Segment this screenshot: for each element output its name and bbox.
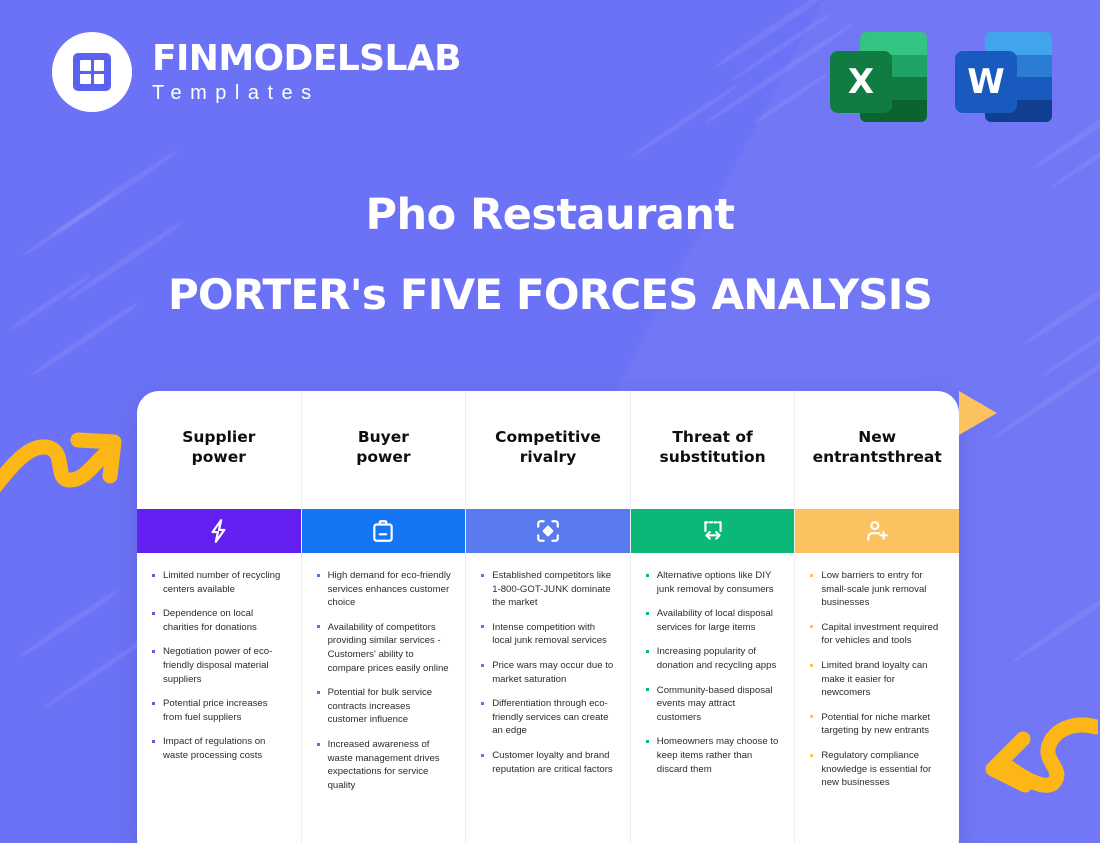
bullet-item: Increasing popularity of donation and re…: [641, 645, 781, 672]
force-column-2: Buyer power High demand for eco-friendly…: [302, 391, 467, 843]
force-points-4: Alternative options like DIY junk remova…: [631, 553, 795, 843]
bullet-list: Limited number of recycling centers avai…: [147, 569, 287, 763]
add-person-icon: [864, 518, 890, 544]
bullet-item: Potential for niche market targeting by …: [805, 711, 945, 738]
force-icon-band-3: [466, 509, 630, 553]
bullet-item: Regulatory compliance knowledge is essen…: [805, 749, 945, 790]
bullet-item: Customer loyalty and brand reputation ar…: [476, 749, 616, 776]
grid-squares-icon: [73, 53, 111, 91]
page-header: FINMODELSLAB Templates X W: [0, 0, 1100, 150]
word-icon[interactable]: W: [955, 26, 1052, 122]
bullet-item: Availability of local disposal services …: [641, 607, 781, 634]
force-header-4: Threat of substitution: [631, 391, 795, 509]
word-icon-letter: W: [955, 51, 1017, 113]
force-column-5: New entrantsthreat Low barriers to entry…: [795, 391, 959, 843]
exchange-arrows-icon: [700, 518, 726, 544]
squiggle-arrow-down-left-icon: [963, 715, 1098, 805]
bullet-item: Established competitors like 1-800-GOT-J…: [476, 569, 616, 610]
force-icon-band-1: [137, 509, 301, 553]
bullet-item: Potential for bulk service contracts inc…: [312, 686, 452, 727]
porters-five-forces-card: Supplier power Limited number of recycli…: [137, 391, 959, 843]
page-subtitle: PORTER's FIVE FORCES ANALYSIS: [0, 272, 1100, 318]
forces-columns: Supplier power Limited number of recycli…: [137, 391, 959, 843]
bullet-item: Dependence on local charities for donati…: [147, 607, 287, 634]
bullet-item: Alternative options like DIY junk remova…: [641, 569, 781, 596]
bullet-item: Negotiation power of eco-friendly dispos…: [147, 645, 287, 686]
squiggle-arrow-up-right-icon: [0, 404, 127, 499]
force-column-4: Threat of substitution Alternative optio…: [631, 391, 796, 843]
force-icon-band-4: [631, 509, 795, 553]
bullet-item: High demand for eco-friendly services en…: [312, 569, 452, 610]
bullet-list: High demand for eco-friendly services en…: [312, 569, 452, 793]
force-icon-band-2: [302, 509, 466, 553]
force-points-5: Low barriers to entry for small-scale ju…: [795, 553, 959, 843]
page-title: Pho Restaurant: [0, 192, 1100, 239]
target-focus-icon: [535, 518, 561, 544]
arrow-head-tip: [959, 391, 999, 435]
force-title: New entrantsthreat: [813, 427, 942, 468]
bullet-item: Availability of competitors providing si…: [312, 621, 452, 675]
bullet-list: Low barriers to entry for small-scale ju…: [805, 569, 945, 790]
file-format-badges: X W: [830, 26, 1052, 122]
force-header-5: New entrantsthreat: [795, 391, 959, 509]
bullet-item: Intense competition with local junk remo…: [476, 621, 616, 648]
bullet-item: Differentiation through eco-friendly ser…: [476, 697, 616, 738]
brand-tagline: Templates: [152, 82, 461, 104]
force-column-3: Competitive rivalry Established competit…: [466, 391, 631, 843]
force-points-2: High demand for eco-friendly services en…: [302, 553, 466, 843]
title-block: Pho Restaurant PORTER's FIVE FORCES ANAL…: [0, 192, 1100, 318]
excel-icon-letter: X: [830, 51, 892, 113]
bullet-item: Limited brand loyalty can make it easier…: [805, 659, 945, 700]
bullet-item: Capital investment required for vehicles…: [805, 621, 945, 648]
force-points-3: Established competitors like 1-800-GOT-J…: [466, 553, 630, 843]
force-title: Supplier power: [182, 427, 255, 468]
force-header-2: Buyer power: [302, 391, 466, 509]
force-column-1: Supplier power Limited number of recycli…: [137, 391, 302, 843]
bullet-item: Price wars may occur due to market satur…: [476, 659, 616, 686]
bullet-list: Alternative options like DIY junk remova…: [641, 569, 781, 776]
force-title: Buyer power: [356, 427, 410, 468]
lightning-bolt-icon: [206, 518, 232, 544]
force-title: Competitive rivalry: [495, 427, 601, 468]
excel-icon[interactable]: X: [830, 26, 927, 122]
bullet-item: Low barriers to entry for small-scale ju…: [805, 569, 945, 610]
bullet-item: Homeowners may choose to keep items rath…: [641, 735, 781, 776]
brand-logo[interactable]: FINMODELSLAB Templates: [52, 32, 461, 112]
force-header-1: Supplier power: [137, 391, 301, 509]
brand-name: FINMODELSLAB: [152, 40, 461, 78]
bullet-item: Community-based disposal events may attr…: [641, 684, 781, 725]
bullet-item: Increased awareness of waste management …: [312, 738, 452, 792]
bullet-item: Limited number of recycling centers avai…: [147, 569, 287, 596]
shopping-bag-icon: [370, 518, 396, 544]
bullet-item: Potential price increases from fuel supp…: [147, 697, 287, 724]
force-icon-band-5: [795, 509, 959, 553]
logo-mark: [52, 32, 132, 112]
force-title: Threat of substitution: [660, 427, 766, 468]
bullet-item: Impact of regulations on waste processin…: [147, 735, 287, 762]
force-points-1: Limited number of recycling centers avai…: [137, 553, 301, 843]
bullet-list: Established competitors like 1-800-GOT-J…: [476, 569, 616, 776]
force-header-3: Competitive rivalry: [466, 391, 630, 509]
